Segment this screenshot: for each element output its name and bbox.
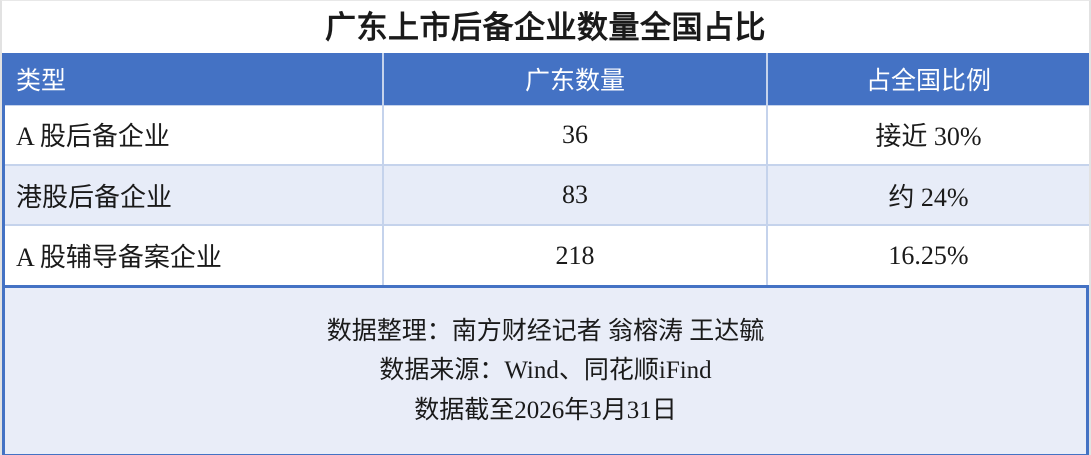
cell-count: 83 [383,165,767,225]
left-accent-strip [2,53,5,455]
table-header: 类型 广东数量 占全国比例 [2,53,1089,105]
data-table: 类型 广东数量 占全国比例 A 股后备企业 36 接近 30% 港股后备企业 8… [2,53,1089,285]
cell-share: 约 24% [767,165,1089,225]
column-header-type: 类型 [2,53,383,105]
cell-type: A 股后备企业 [2,105,383,165]
column-header-share: 占全国比例 [767,53,1089,105]
footer-note-block: 数据整理：南方财经记者 翁榕涛 王达毓 数据来源：Wind、同花顺iFind 数… [2,285,1089,455]
footer-line-data-source: 数据来源：Wind、同花顺iFind [379,353,711,389]
table-header-row: 类型 广东数量 占全国比例 [2,53,1089,105]
footer-line-compiled-by: 数据整理：南方财经记者 翁榕涛 王达毓 [327,314,765,350]
page-title: 广东上市后备企业数量全国占比 [325,12,766,43]
title-band: 广东上市后备企业数量全国占比 [2,1,1089,53]
table-body: A 股后备企业 36 接近 30% 港股后备企业 83 约 24% A 股辅导备… [2,105,1089,285]
cell-type: A 股辅导备案企业 [2,225,383,285]
cell-share: 接近 30% [767,105,1089,165]
table-row: A 股后备企业 36 接近 30% [2,105,1089,165]
cell-count: 218 [383,225,767,285]
infographic-table-card: 广东上市后备企业数量全国占比 类型 广东数量 占全国比例 A 股后备企业 36 … [0,0,1091,455]
cell-share: 16.25% [767,225,1089,285]
footer-line-data-asof: 数据截至2026年3月31日 [414,393,677,429]
cell-type: 港股后备企业 [2,165,383,225]
table-row: A 股辅导备案企业 218 16.25% [2,225,1089,285]
column-header-count: 广东数量 [383,53,767,105]
table-row: 港股后备企业 83 约 24% [2,165,1089,225]
cell-count: 36 [383,105,767,165]
